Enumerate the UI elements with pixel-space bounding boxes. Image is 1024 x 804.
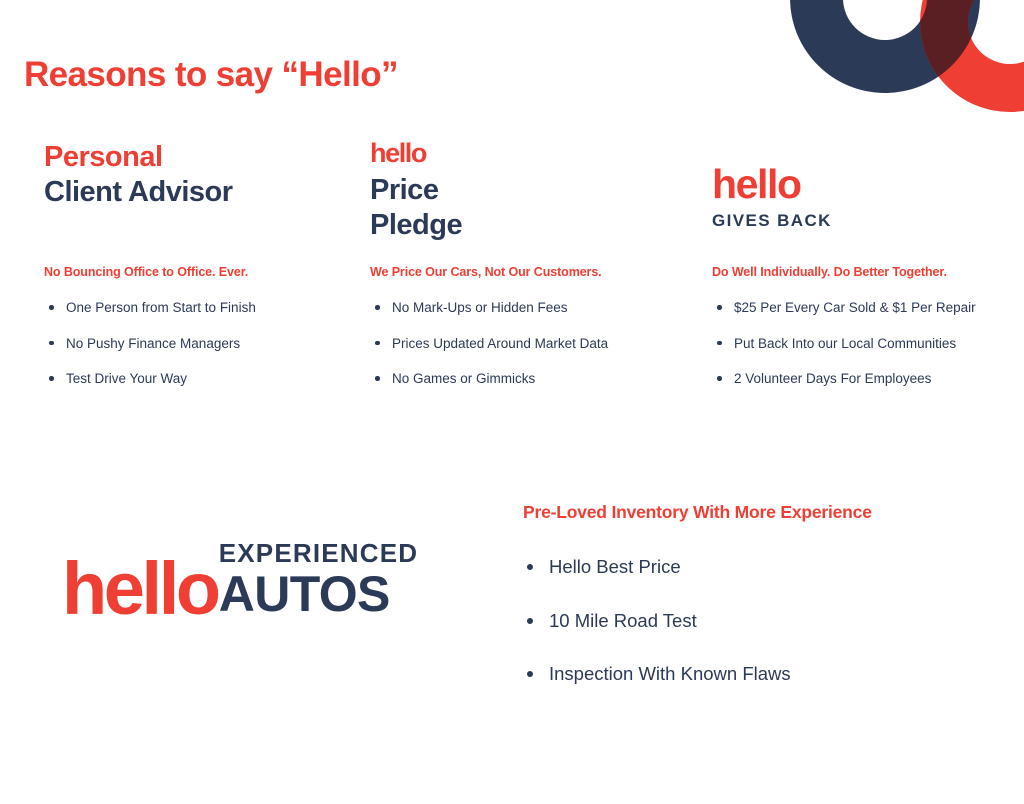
list-item: Inspection With Known Flaws (523, 665, 1003, 684)
heading-line-2: Pledge (370, 208, 670, 243)
list-item: No Mark-Ups or Hidden Fees (370, 301, 670, 315)
list-item: One Person from Start to Finish (44, 301, 344, 315)
heading-line-1: Price (370, 173, 670, 208)
list-item: Hello Best Price (523, 558, 1003, 577)
page-title: Reasons to say “Hello” (24, 55, 398, 95)
column-subhead-wrap: We Price Our Cars, Not Our Customers. (370, 265, 670, 279)
column-subhead-wrap: No Bouncing Office to Office. Ever. (44, 265, 344, 279)
logo-hello-wordmark: hello (62, 558, 218, 620)
logo-text-stack: EXPERIENCED AUTOS (219, 540, 419, 620)
heading-line-2: Client Advisor (44, 175, 344, 210)
column-subhead: We Price Our Cars, Not Our Customers. (370, 265, 670, 279)
ring-overlap-shape (760, 0, 1024, 130)
column-subhead-wrap: Do Well Individually. Do Better Together… (712, 265, 1012, 279)
list-item: 10 Mile Road Test (523, 612, 1003, 631)
gives-back-label: GIVES BACK (712, 212, 1012, 229)
bottom-content: Pre-Loved Inventory With More Experience… (523, 502, 1003, 684)
list-item: No Pushy Finance Managers (44, 337, 344, 351)
logo-experienced-label: EXPERIENCED (219, 540, 419, 566)
bottom-bullet-list: Hello Best Price 10 Mile Road Test Inspe… (523, 558, 1003, 684)
heading-line-1: Personal (44, 140, 344, 175)
column-heading: Personal Client Advisor (44, 140, 344, 265)
hello-gives-back-lockup: hello GIVES BACK (712, 140, 1012, 229)
column-heading: hello GIVES BACK (712, 140, 1012, 265)
list-item: No Games or Gimmicks (370, 372, 670, 386)
hello-wordmark: hello (370, 140, 670, 167)
bottom-subhead: Pre-Loved Inventory With More Experience (523, 502, 1003, 523)
column-heading: hello Price Pledge (370, 140, 670, 265)
list-item: Put Back Into our Local Communities (712, 337, 1012, 351)
column-bullet-list: One Person from Start to Finish No Pushy… (44, 301, 344, 386)
navy-ring-shape (790, 0, 980, 93)
feature-column-hello-gives-back: hello GIVES BACK Do Well Individually. D… (712, 140, 1012, 386)
corner-decoration (760, 0, 1024, 130)
list-item: $25 Per Every Car Sold & $1 Per Repair (712, 301, 1012, 315)
hello-wordmark: hello (712, 164, 1012, 205)
red-ring-shape (920, 0, 1024, 112)
feature-column-personal-client-advisor: Personal Client Advisor No Bouncing Offi… (44, 140, 344, 386)
hello-autos-logo: hello EXPERIENCED AUTOS (62, 540, 418, 620)
column-subhead: Do Well Individually. Do Better Together… (712, 265, 1012, 279)
list-item: Test Drive Your Way (44, 372, 344, 386)
list-item: 2 Volunteer Days For Employees (712, 372, 1012, 386)
logo-autos-label: AUTOS (219, 569, 419, 619)
list-item: Prices Updated Around Market Data (370, 337, 670, 351)
feature-column-hello-price-pledge: hello Price Pledge We Price Our Cars, No… (370, 140, 670, 386)
column-bullet-list: $25 Per Every Car Sold & $1 Per Repair P… (712, 301, 1012, 386)
column-subhead: No Bouncing Office to Office. Ever. (44, 265, 344, 279)
column-bullet-list: No Mark-Ups or Hidden Fees Prices Update… (370, 301, 670, 386)
